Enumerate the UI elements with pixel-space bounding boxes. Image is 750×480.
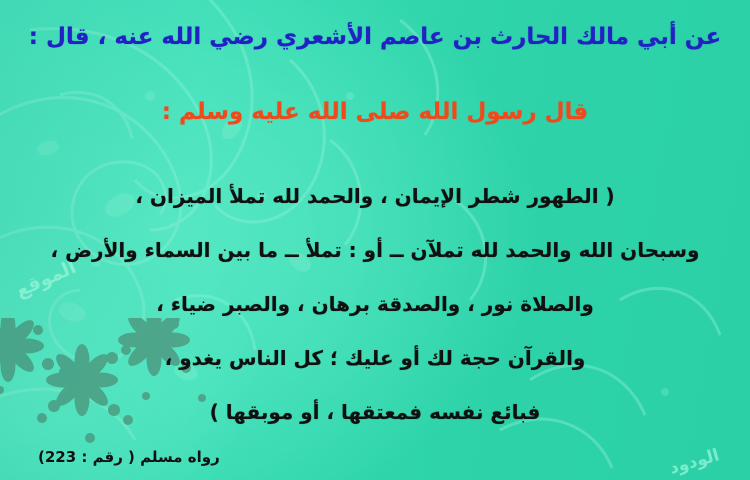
narrator-line: عن أبي مالك الحارث بن عاصم الأشعري رضي ا… xyxy=(0,26,750,49)
hadith-line-1: ( الطهور شطر الإيمان ، والحمد لله تملأ ا… xyxy=(0,186,750,206)
hadith-line-2: وسبحان الله والحمد لله تملآن ــ أو : تمل… xyxy=(0,240,750,260)
hadith-card: الموقع الودود عن أبي مالك الحارث بن عاصم… xyxy=(0,0,750,480)
hadith-line-3: والصلاة نور ، والصدقة برهان ، والصبر ضيا… xyxy=(0,294,750,314)
hadith-source-reference: رواه مسلم ( رقم : 223) xyxy=(38,448,220,466)
hadith-line-4: والقرآن حجة لك أو عليك ؛ كل الناس يغدو ، xyxy=(0,348,750,368)
hadith-content: عن أبي مالك الحارث بن عاصم الأشعري رضي ا… xyxy=(0,0,750,480)
hadith-line-5: فبائع نفسه فمعتقها ، أو موبقها ) xyxy=(0,402,750,422)
prophet-saying-line: قال رسول الله صلى الله عليه وسلم : xyxy=(0,101,750,124)
